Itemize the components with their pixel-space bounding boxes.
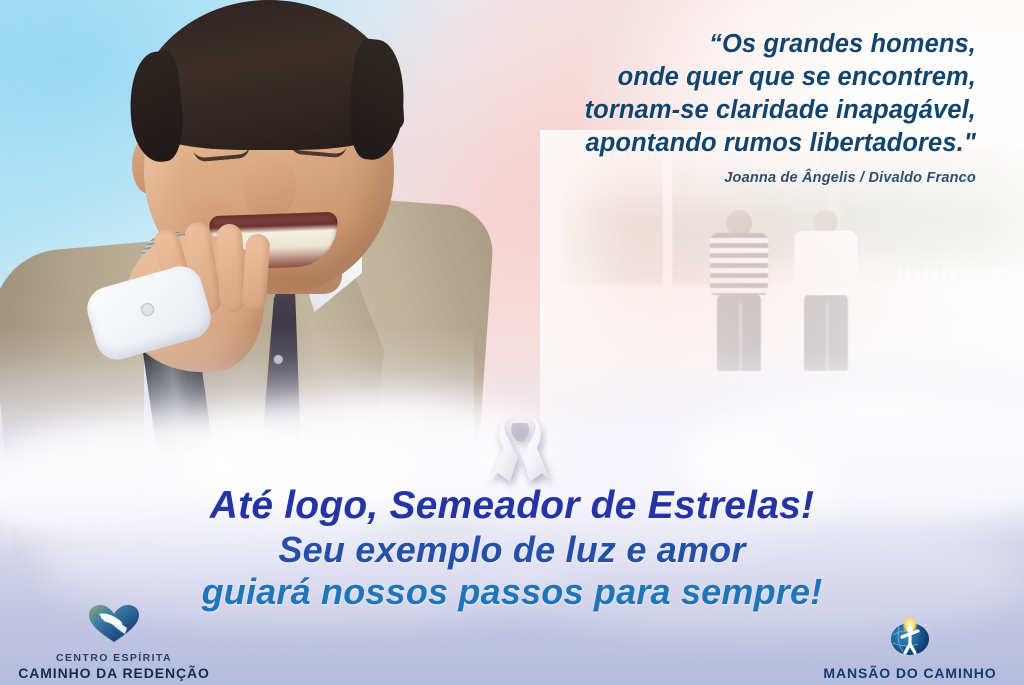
heart-hands-icon — [14, 604, 214, 649]
headline: Até logo, Semeador de Estrelas! Seu exem… — [0, 486, 1024, 610]
quote-attribution: Joanna de Ângelis / Divaldo Franco — [416, 170, 976, 186]
logo-left-line-2: CAMINHO DA REDENÇÃO — [14, 665, 214, 681]
headline-line-1: Até logo, Semeador de Estrelas! — [0, 486, 1024, 525]
logo-right-line-2: MANSÃO DO CAMINHO — [810, 665, 1010, 681]
portrait-divaldo-franco — [0, 0, 474, 516]
white-ribbon-icon — [487, 410, 553, 488]
quote-text: “Os grandes homens, onde quer que se enc… — [416, 28, 976, 161]
nose — [244, 158, 296, 220]
quote-line-4: apontando rumos libertadores." — [416, 127, 976, 160]
headline-line-2: Seu exemplo de luz e amor — [0, 532, 1024, 568]
quote-line-1: “Os grandes homens, — [416, 28, 976, 61]
globe-figure-icon — [810, 617, 1010, 662]
quote-line-2: onde quer que se encontrem, — [416, 61, 976, 94]
logo-mansao-do-caminho: MANSÃO DO CAMINHO — [810, 617, 1010, 681]
logo-left-line-1: CENTRO ESPÍRITA — [14, 652, 214, 664]
quote-line-3: tornam-se claridade inapagável, — [416, 94, 976, 127]
memorial-poster: “Os grandes homens, onde quer que se enc… — [0, 0, 1024, 685]
cuff-button — [142, 304, 153, 315]
logo-centro-espirita: CENTRO ESPÍRITA CAMINHO DA REDENÇÃO — [14, 604, 214, 681]
